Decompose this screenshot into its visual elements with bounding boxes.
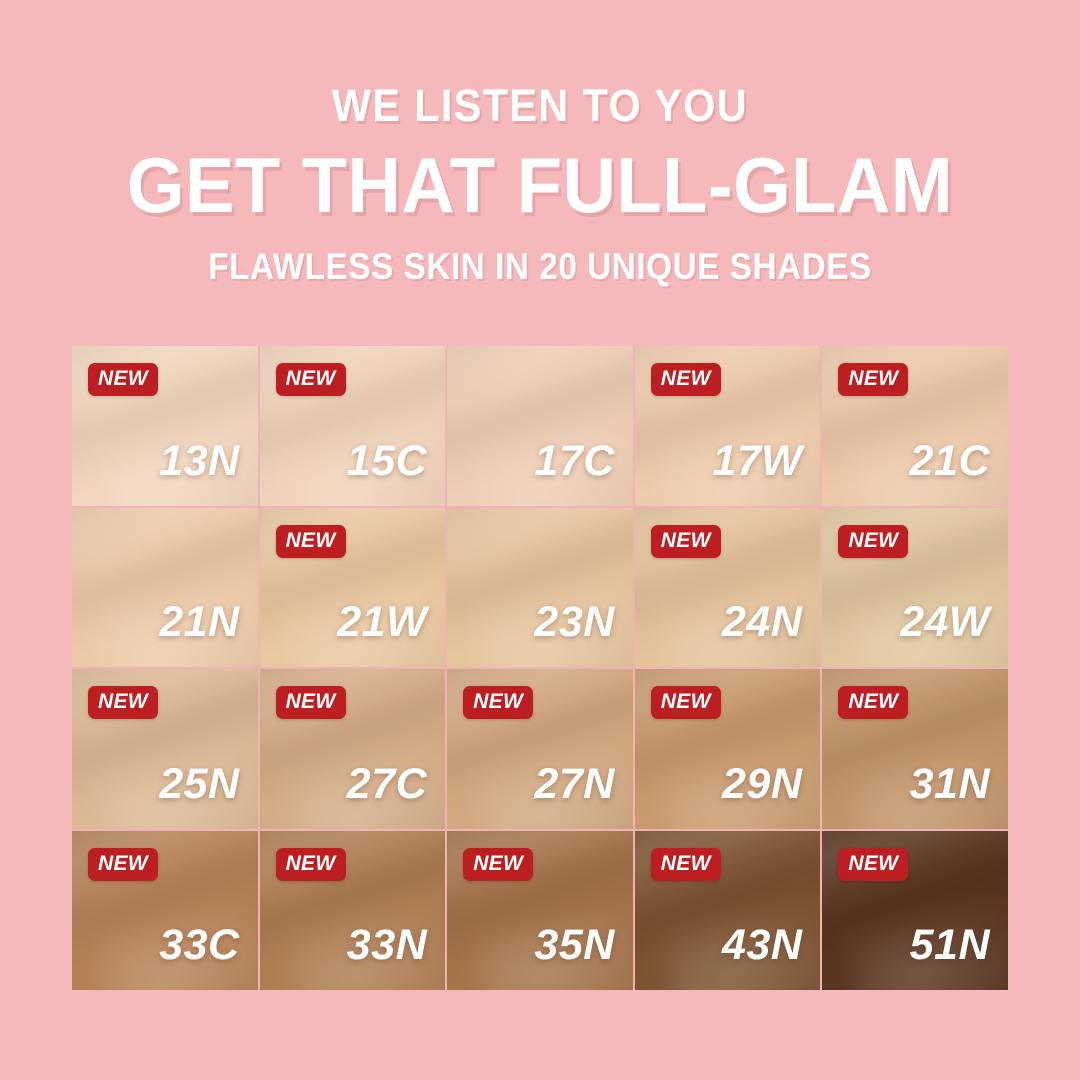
shade-swatch[interactable]: NEW24N (635, 508, 821, 668)
shade-code-label: 33N (347, 922, 427, 968)
shade-code-label: 17C (534, 438, 614, 484)
shade-code-label: 27C (347, 761, 427, 807)
new-badge: NEW (838, 363, 908, 396)
shade-swatch[interactable]: NEW21W (260, 508, 446, 668)
shade-code-label: 13N (159, 438, 239, 484)
shade-swatch[interactable]: NEW13N (72, 346, 258, 506)
shade-code-label: 43N (722, 922, 802, 968)
shade-swatch[interactable]: NEW33C (72, 831, 258, 991)
new-badge: NEW (463, 848, 533, 881)
new-badge: NEW (651, 848, 721, 881)
new-badge: NEW (651, 686, 721, 719)
shade-code-label: 29N (722, 761, 802, 807)
headline-eyebrow: WE LISTEN TO YOU (43, 78, 1037, 134)
shade-code-label: 21N (159, 599, 239, 645)
shade-swatch[interactable]: NEW21C (822, 346, 1008, 506)
new-badge: NEW (276, 848, 346, 881)
shade-swatch-grid: NEW13NNEW15C17CNEW17WNEW21C21NNEW21W23NN… (72, 346, 1008, 990)
headline-block: WE LISTEN TO YOU GET THAT FULL-GLAM FLAW… (0, 78, 1080, 290)
new-badge: NEW (838, 848, 908, 881)
shade-code-label: 24N (722, 599, 802, 645)
shade-swatch[interactable]: NEW43N (635, 831, 821, 991)
new-badge: NEW (838, 686, 908, 719)
shade-swatch[interactable]: NEW51N (822, 831, 1008, 991)
shade-swatch[interactable]: NEW33N (260, 831, 446, 991)
shade-swatch[interactable]: NEW29N (635, 669, 821, 829)
shade-range-poster: WE LISTEN TO YOU GET THAT FULL-GLAM FLAW… (0, 0, 1080, 1080)
shade-code-label: 25N (159, 761, 239, 807)
shade-swatch[interactable]: NEW24W (822, 508, 1008, 668)
new-badge: NEW (88, 363, 158, 396)
headline-main: GET THAT FULL-GLAM (27, 142, 1053, 228)
shade-swatch[interactable]: NEW25N (72, 669, 258, 829)
new-badge: NEW (276, 686, 346, 719)
shade-code-label: 23N (534, 599, 614, 645)
shade-code-label: 15C (347, 438, 427, 484)
new-badge: NEW (276, 525, 346, 558)
shade-swatch[interactable]: 23N (447, 508, 633, 668)
shade-swatch[interactable]: 17C (447, 346, 633, 506)
shade-swatch[interactable]: NEW17W (635, 346, 821, 506)
shade-swatch[interactable]: NEW31N (822, 669, 1008, 829)
shade-code-label: 24W (900, 599, 990, 645)
shade-swatch[interactable]: NEW27N (447, 669, 633, 829)
shade-swatch[interactable]: 21N (72, 508, 258, 668)
new-badge: NEW (463, 686, 533, 719)
shade-swatch[interactable]: NEW35N (447, 831, 633, 991)
new-badge: NEW (276, 363, 346, 396)
shade-swatch[interactable]: NEW15C (260, 346, 446, 506)
shade-code-label: 51N (910, 922, 990, 968)
headline-subtitle: FLAWLESS SKIN IN 20 UNIQUE SHADES (54, 244, 1026, 290)
shade-code-label: 27N (534, 761, 614, 807)
shade-code-label: 21W (337, 599, 427, 645)
shade-code-label: 33C (159, 922, 239, 968)
shade-code-label: 31N (910, 761, 990, 807)
new-badge: NEW (651, 525, 721, 558)
shade-code-label: 17W (712, 438, 802, 484)
new-badge: NEW (88, 686, 158, 719)
new-badge: NEW (88, 848, 158, 881)
shade-code-label: 35N (534, 922, 614, 968)
new-badge: NEW (838, 525, 908, 558)
shade-swatch[interactable]: NEW27C (260, 669, 446, 829)
new-badge: NEW (651, 363, 721, 396)
shade-code-label: 21C (910, 438, 990, 484)
